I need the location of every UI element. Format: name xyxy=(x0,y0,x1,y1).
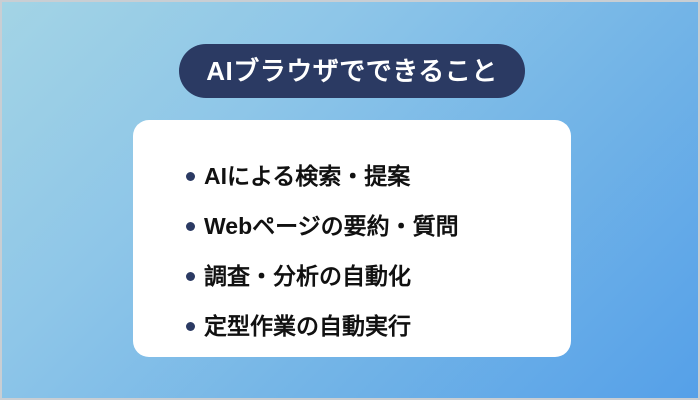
bullet-icon xyxy=(186,222,195,231)
slide-canvas: AIブラウザでできること AIによる検索・提案 Webページの要約・質問 調査・… xyxy=(0,0,700,400)
feature-list: AIによる検索・提案 Webページの要約・質問 調査・分析の自動化 定型作業の自… xyxy=(186,151,459,351)
bullet-icon xyxy=(186,322,195,331)
list-item-label: 定型作業の自動実行 xyxy=(204,315,411,338)
feature-card: AIによる検索・提案 Webページの要約・質問 調査・分析の自動化 定型作業の自… xyxy=(133,120,571,357)
title-badge: AIブラウザでできること xyxy=(179,44,525,98)
list-item: AIによる検索・提案 xyxy=(186,151,459,201)
list-item: 調査・分析の自動化 xyxy=(186,251,459,301)
bullet-icon xyxy=(186,172,195,181)
list-item-label: AIによる検索・提案 xyxy=(204,165,410,188)
list-item-label: Webページの要約・質問 xyxy=(204,215,459,238)
list-item: 定型作業の自動実行 xyxy=(186,301,459,351)
bullet-icon xyxy=(186,272,195,281)
list-item-label: 調査・分析の自動化 xyxy=(204,265,411,288)
list-item: Webページの要約・質問 xyxy=(186,201,459,251)
page-title: AIブラウザでできること xyxy=(206,58,497,84)
